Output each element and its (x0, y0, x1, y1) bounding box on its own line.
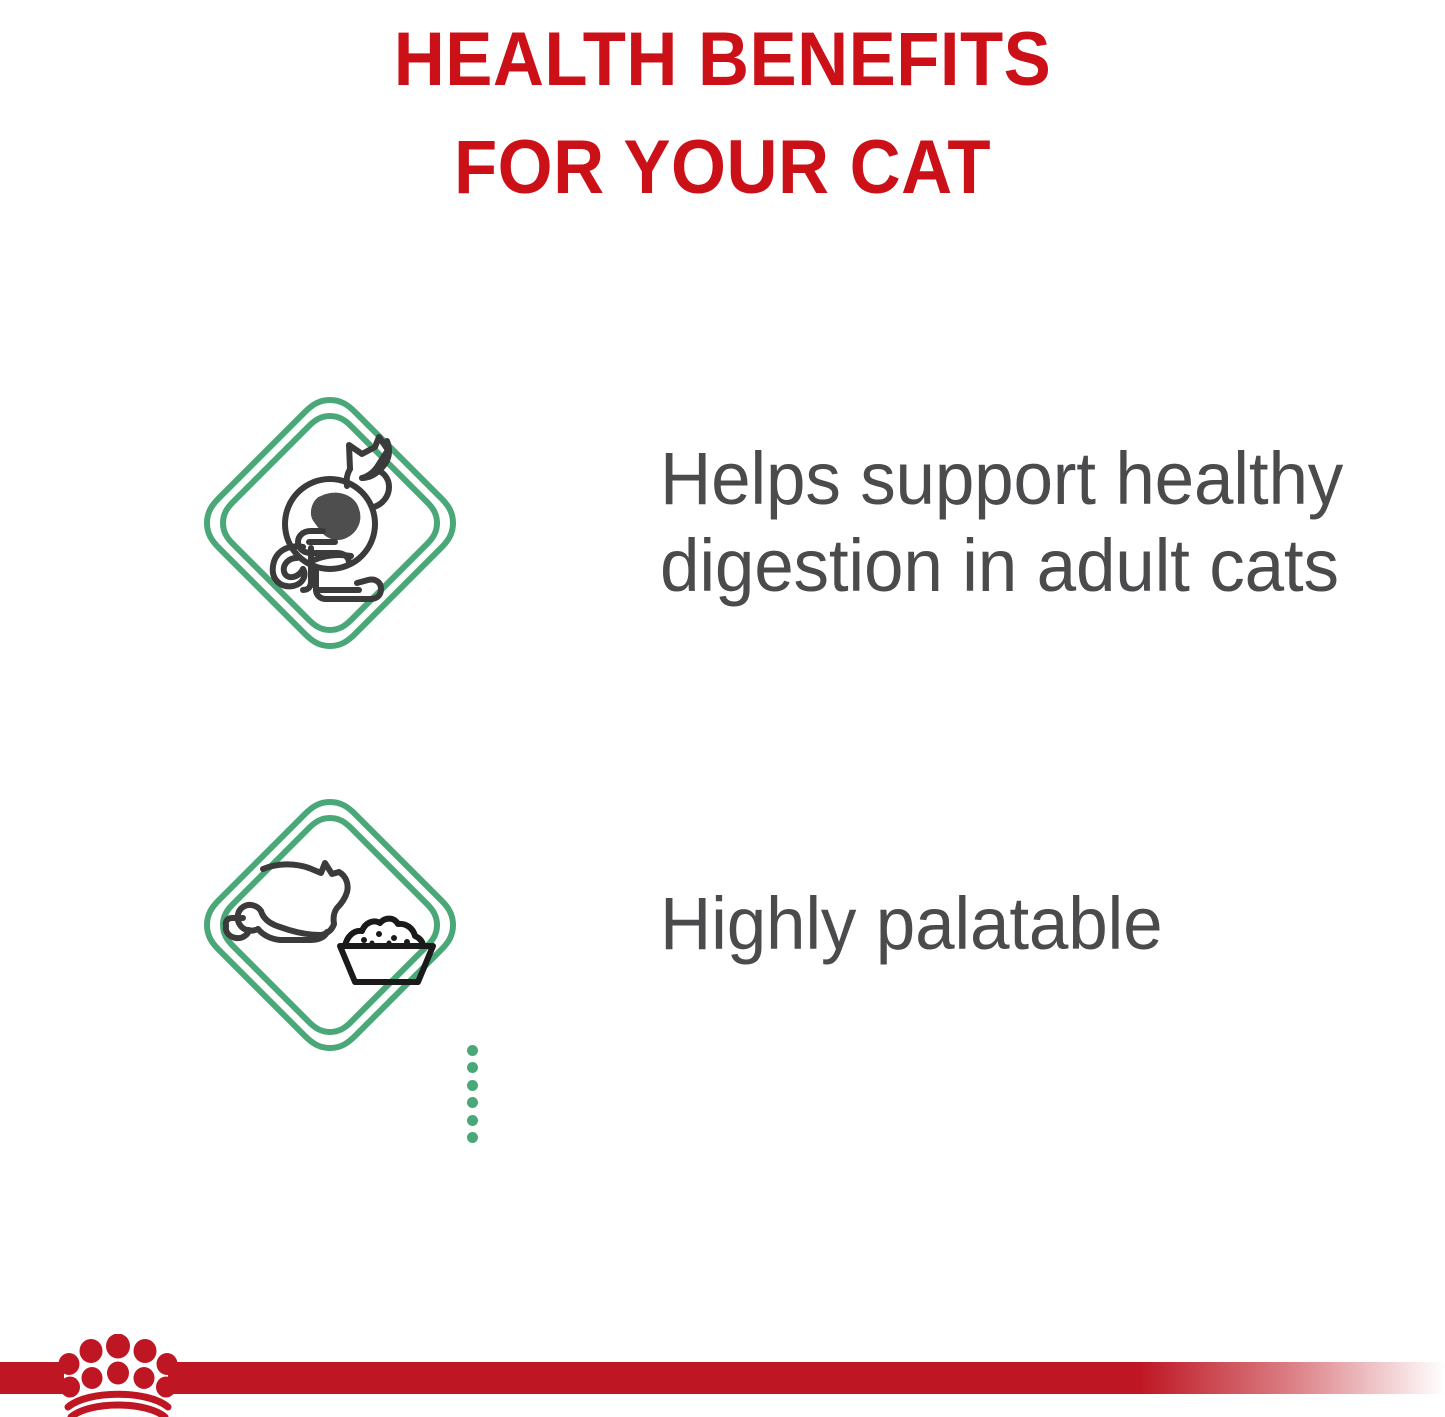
connector-dot (467, 1080, 478, 1091)
page-title-line-2: FOR YOUR CAT (51, 114, 1395, 222)
brand-footer-bar (0, 1362, 1445, 1417)
royal-canin-crown-logo (58, 1334, 178, 1417)
cat-digestion-icon (199, 392, 461, 654)
benefits-list: Helps support healthy digestion in adult… (0, 380, 1445, 1067)
cat-eating-bowl-icon (199, 794, 461, 1056)
benefit-icon-cell (0, 392, 660, 654)
benefit-label-palatability: Highly palatable (660, 881, 1162, 968)
health-benefits-panel: HEALTH BENEFITS FOR YOUR CAT (0, 0, 1445, 1417)
brand-bar-left-segment (0, 1362, 64, 1394)
page-title-line-1: HEALTH BENEFITS (51, 6, 1395, 114)
connector-dot (467, 1115, 478, 1126)
benefit-label-digestion: Helps support healthy digestion in adult… (660, 436, 1390, 609)
benefit-item-palatability: Highly palatable (0, 782, 1445, 1067)
connector-dot (467, 1132, 478, 1143)
benefit-item-digestion: Helps support healthy digestion in adult… (0, 380, 1445, 665)
benefit-icon-cell (0, 794, 660, 1056)
brand-bar-right-segment (168, 1362, 1445, 1394)
connector-dot (467, 1097, 478, 1108)
page-title: HEALTH BENEFITS FOR YOUR CAT (0, 0, 1445, 222)
